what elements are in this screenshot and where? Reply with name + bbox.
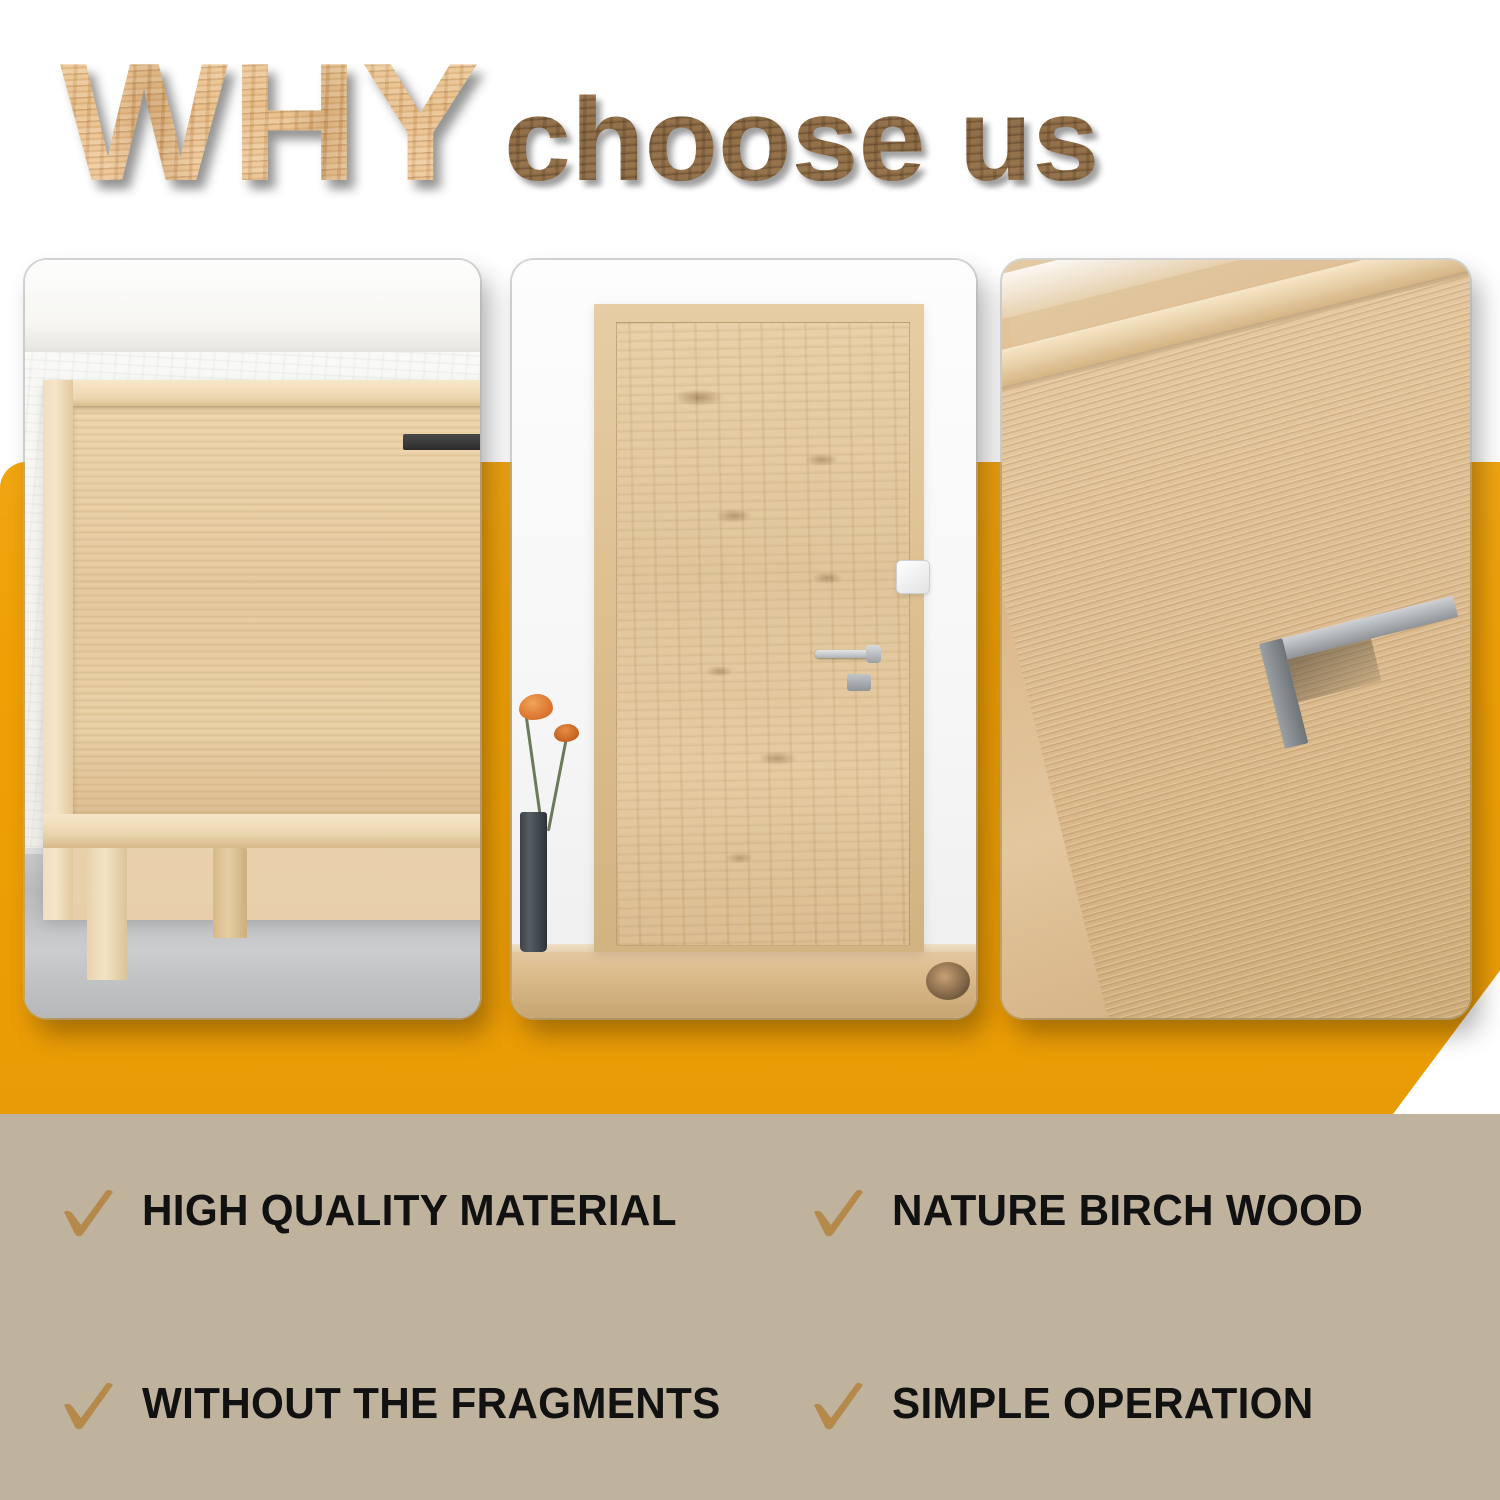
door-keyhole-escutcheon [847, 674, 871, 691]
cabinet-bar-handle [403, 434, 480, 450]
cabinet-bottom-rail [43, 814, 480, 848]
light-switch [896, 560, 930, 594]
check-icon [808, 1373, 870, 1435]
wooden-log-stool [926, 962, 970, 1000]
infographic-page: WHY choose us [0, 0, 1500, 1500]
photo-card-drawer-edge [1002, 260, 1470, 1018]
photo-gallery [0, 0, 1500, 1120]
plywood-drawer-edge-photo [1002, 260, 1470, 1018]
feature-label: HIGH QUALITY MATERIAL [142, 1186, 677, 1236]
features-section: HIGH QUALITY MATERIAL NATURE BIRCH WOOD … [0, 1114, 1500, 1500]
features-grid: HIGH QUALITY MATERIAL NATURE BIRCH WOOD … [0, 1114, 1500, 1500]
dark-floor-vase [520, 812, 547, 952]
oak-interior-door-photo [512, 260, 976, 1018]
feature-label: SIMPLE OPERATION [892, 1379, 1314, 1429]
nightstand-cabinet [43, 380, 480, 920]
cabinet-door-panel [73, 406, 480, 816]
check-icon [808, 1180, 870, 1242]
oak-door-slab [616, 322, 910, 946]
cabinet-top-rail [43, 380, 480, 406]
door-lever-handle [815, 650, 875, 658]
cabinet-front-leg [87, 848, 127, 980]
door-frame [594, 304, 924, 952]
photo-card-birch-nightstand [25, 260, 480, 1018]
wall-upper-band [25, 260, 480, 352]
wood-floor [512, 952, 976, 1018]
photo-card-oak-door [512, 260, 976, 1018]
feature-label: WITHOUT THE FRAGMENTS [142, 1379, 721, 1429]
birch-nightstand-photo [25, 260, 480, 1018]
cabinet-rear-leg [213, 848, 247, 938]
feature-label: NATURE BIRCH WOOD [892, 1186, 1363, 1236]
